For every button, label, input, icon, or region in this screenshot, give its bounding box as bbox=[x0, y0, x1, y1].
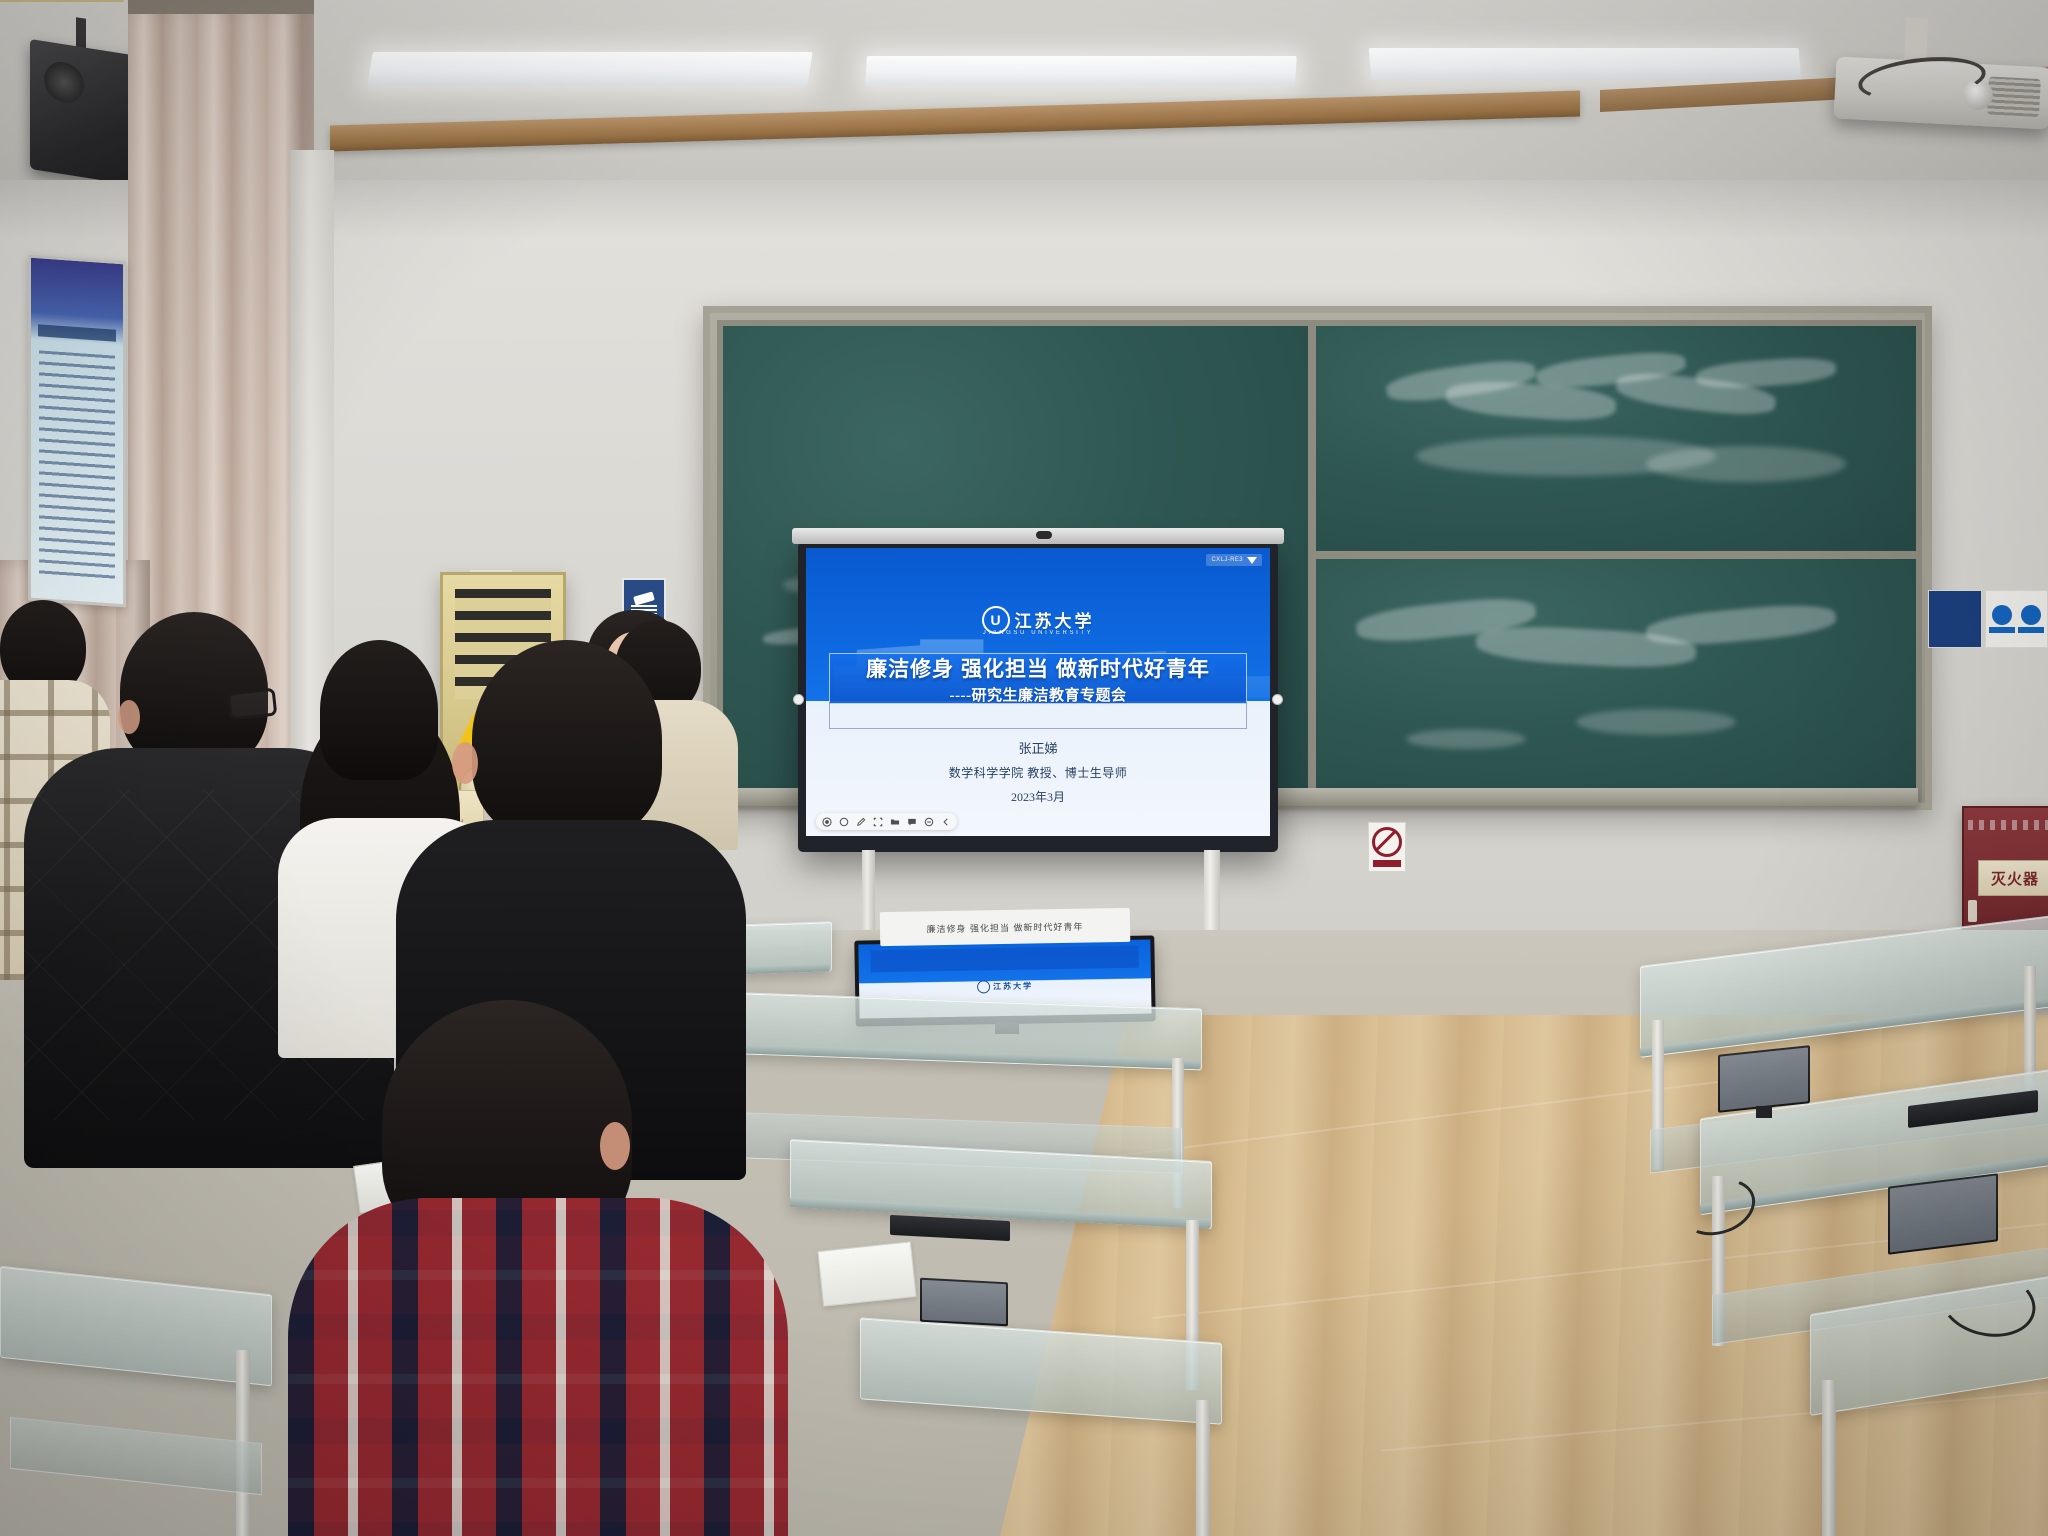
projector-vent bbox=[1987, 76, 2041, 117]
monitor-screen bbox=[1890, 1175, 1996, 1252]
monitor-screen bbox=[1720, 1047, 1808, 1110]
monitor bbox=[1888, 1173, 1998, 1255]
student-plaid bbox=[288, 1198, 788, 1536]
classroom-scene: 灭火器 FullTouch bbox=[0, 0, 2048, 1536]
secondary-header-text: 廉洁修身 强化担当 做新时代好青年 bbox=[926, 919, 1083, 935]
slide-status-chip: CXLJ-RE3 bbox=[1206, 554, 1262, 566]
student-ear bbox=[600, 1122, 630, 1170]
chevron-left-icon[interactable] bbox=[941, 817, 951, 827]
monitor-stand bbox=[1756, 1106, 1772, 1118]
panel-camera bbox=[1036, 531, 1052, 539]
presentation-slide: CXLJ-RE3 U 江苏大学 JIANGSU UNIVERSITY 廉洁修身 … bbox=[806, 548, 1270, 836]
equipment-notice-sign bbox=[1928, 590, 1982, 648]
wear-gloves-sign bbox=[2018, 594, 2044, 644]
record-icon[interactable] bbox=[822, 817, 832, 827]
panel-side-button[interactable] bbox=[1272, 694, 1283, 705]
gloves-icon bbox=[2021, 605, 2041, 625]
desk-leg bbox=[1822, 1380, 1836, 1536]
cctv-camera-icon bbox=[633, 591, 655, 605]
student-head bbox=[320, 640, 438, 780]
fire-cabinet-label: 灭火器 bbox=[1991, 868, 2039, 889]
student-ear bbox=[118, 700, 140, 734]
university-name-cn: 江苏大学 bbox=[1015, 607, 1095, 632]
panel-floating-toolbar[interactable] bbox=[816, 813, 957, 830]
no-running-sign bbox=[1368, 822, 1406, 872]
fire-cabinet-plate: 灭火器 bbox=[1978, 860, 2048, 896]
right-wall-sign-cluster bbox=[1928, 590, 2048, 648]
slide-presenter-info: 张正娣 数学科学学院 教授、博士生导师 2023年3月 bbox=[806, 738, 1270, 805]
eyeglasses bbox=[227, 688, 278, 721]
secondary-title-band bbox=[870, 946, 1139, 973]
ceiling-light bbox=[865, 56, 1297, 86]
poster-text-lines bbox=[39, 350, 115, 585]
panel-side-button[interactable] bbox=[793, 694, 804, 705]
presenter-role: 数学科学学院 教授、博士生导师 bbox=[806, 764, 1270, 781]
presentation-date: 2023年3月 bbox=[806, 788, 1270, 805]
desk-leg bbox=[1196, 1400, 1210, 1536]
mask-icon bbox=[1992, 605, 2012, 625]
sign-label-bar bbox=[1373, 860, 1401, 867]
cabinet-top-text bbox=[1968, 820, 2048, 830]
slide-title-band-outline bbox=[829, 702, 1247, 729]
monitor-screen bbox=[922, 1280, 1006, 1324]
fullscreen-icon[interactable] bbox=[873, 817, 883, 827]
safety-poster bbox=[28, 255, 126, 608]
mandatory-ppe-signs bbox=[1985, 590, 2048, 648]
logo-mark-icon bbox=[977, 981, 990, 994]
student-ear bbox=[452, 742, 478, 784]
chalkboard-panel-top-right bbox=[1310, 320, 1922, 557]
ceiling-light bbox=[1369, 48, 1802, 80]
circle-icon[interactable] bbox=[839, 817, 849, 827]
wear-mask-sign bbox=[1989, 594, 2015, 644]
panel-screen[interactable]: CXLJ-RE3 U 江苏大学 JIANGSU UNIVERSITY 廉洁修身 … bbox=[806, 548, 1270, 836]
student-head bbox=[472, 640, 662, 840]
comment-icon[interactable] bbox=[907, 817, 917, 827]
poster-title-bar bbox=[38, 324, 116, 341]
folder-icon[interactable] bbox=[890, 817, 900, 827]
monitor bbox=[1718, 1045, 1810, 1113]
prohibition-icon bbox=[1372, 827, 1402, 857]
chalkboard-panel-bottom-right bbox=[1310, 553, 1922, 802]
presenter-name: 张正娣 bbox=[806, 738, 1270, 757]
slide-title: 廉洁修身 强化担当 做新时代好青年 bbox=[866, 653, 1210, 683]
university-name-en: JIANGSU UNIVERSITY bbox=[806, 630, 1270, 636]
university-name-cn: 江苏大学 bbox=[993, 981, 1033, 993]
monitor bbox=[920, 1278, 1008, 1327]
slide-title-band: 廉洁修身 强化担当 做新时代好青年 ----研究生廉洁教育专题会 bbox=[829, 653, 1247, 704]
ceiling-light bbox=[367, 52, 812, 86]
pen-icon[interactable] bbox=[856, 817, 866, 827]
sign-label-bar bbox=[2018, 627, 2044, 633]
interactive-flat-panel[interactable]: CXLJ-RE3 U 江苏大学 JIANGSU UNIVERSITY 廉洁修身 … bbox=[798, 542, 1278, 852]
sign-label-bar bbox=[1989, 627, 2015, 633]
secondary-logo: 江苏大学 bbox=[859, 978, 1151, 996]
cabinet-top bbox=[0, 0, 124, 2]
signal-icon bbox=[1247, 557, 1257, 564]
cabinet-handle[interactable] bbox=[1968, 900, 1977, 922]
curtain-rod bbox=[128, 0, 314, 14]
paper-sheet bbox=[817, 1241, 916, 1307]
secondary-display-header: 廉洁修身 强化担当 做新时代好青年 bbox=[880, 908, 1131, 946]
minus-icon[interactable] bbox=[924, 817, 934, 827]
status-chip-text: CXLJ-RE3 bbox=[1211, 557, 1243, 563]
